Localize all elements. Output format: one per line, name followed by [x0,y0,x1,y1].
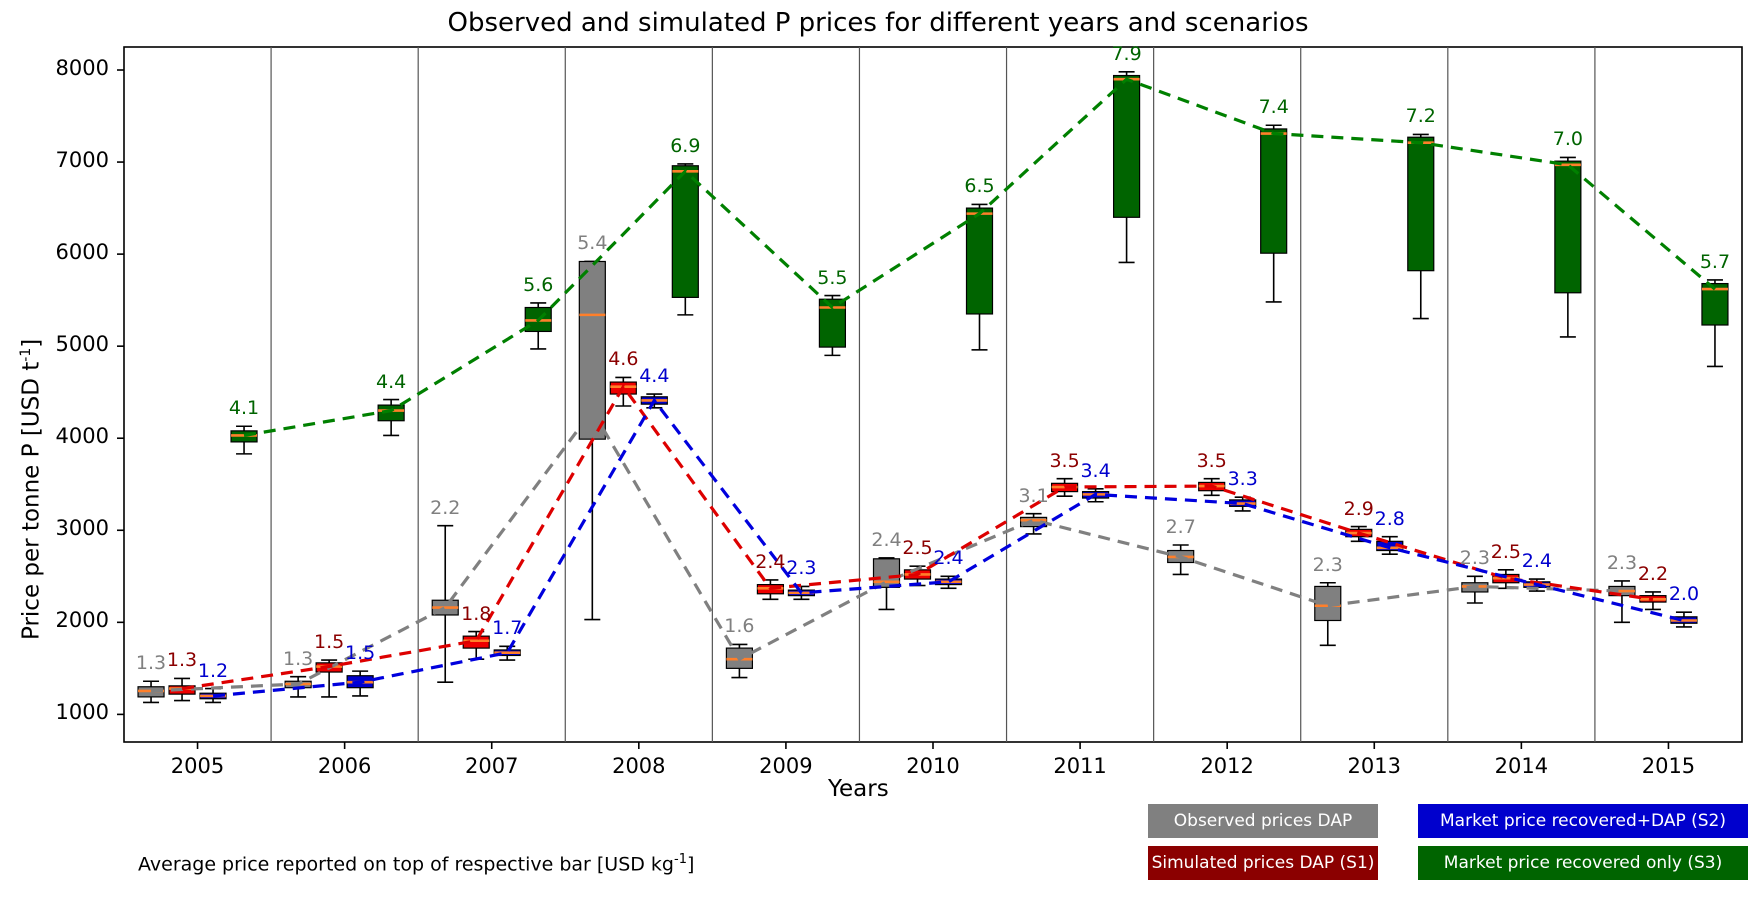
box-plot [1408,137,1434,270]
bar-value-label: 6.9 [655,135,715,157]
x-tick-label: 2013 [1314,754,1434,778]
bar-value-label: 1.2 [183,660,243,682]
box-plot [1555,161,1581,293]
y-tick-label: 4000 [29,424,109,448]
y-tick-label: 8000 [29,56,109,80]
bar-value-label: 2.0 [1654,583,1714,605]
x-tick-label: 2015 [1608,754,1728,778]
bar-value-label: 2.3 [771,557,831,579]
box-plot [1702,284,1728,325]
bar-value-label: 2.2 [415,497,475,519]
bar-value-label: 7.2 [1391,105,1451,127]
chart-figure: Observed and simulated P prices for diff… [0,0,1756,900]
box-plot [1261,129,1287,253]
x-tick-label: 2010 [873,754,993,778]
x-tick-label: 2006 [285,754,405,778]
legend-item-label: Market price recovered only (S3) [1444,853,1722,873]
bar-value-label: 2.4 [1507,550,1567,572]
y-tick-label: 2000 [29,608,109,632]
bar-value-label: 2.4 [919,547,979,569]
bar-value-label: 4.1 [214,397,274,419]
legend-item: Market price recovered only (S3) [1418,846,1748,880]
y-tick-label: 7000 [29,148,109,172]
legend-item-label: Simulated prices DAP (S1) [1152,853,1375,873]
bar-value-label: 3.4 [1066,460,1126,482]
bar-value-label: 5.4 [562,232,622,254]
bar-value-label: 2.3 [1298,554,1358,576]
bar-value-label: 5.6 [508,274,568,296]
bar-value-label: 7.4 [1244,96,1304,118]
box-plot [874,559,900,588]
y-tick-label: 6000 [29,240,109,264]
box-plot [672,166,698,298]
bar-value-label: 3.1 [1004,485,1064,507]
legend-item-label: Observed prices DAP [1174,811,1352,831]
bar-value-label: 2.7 [1151,516,1211,538]
bar-value-label: 2.2 [1623,563,1683,585]
bar-value-label: 7.0 [1538,128,1598,150]
box-plot [378,405,404,421]
bar-value-label: 5.7 [1685,251,1745,273]
x-tick-label: 2012 [1167,754,1287,778]
bar-value-label: 3.3 [1213,468,1273,490]
x-tick-label: 2008 [579,754,699,778]
x-tick-label: 2011 [1020,754,1140,778]
bar-value-label: 6.5 [950,175,1010,197]
bar-value-label: 7.9 [1097,43,1157,65]
x-tick-label: 2007 [432,754,552,778]
bar-value-label: 4.4 [624,365,684,387]
legend-item: Simulated prices DAP (S1) [1148,846,1378,880]
legend-item-label: Market price recovered+DAP (S2) [1440,811,1726,831]
bar-value-label: 4.4 [361,371,421,393]
x-tick-label: 2009 [726,754,846,778]
y-tick-label: 3000 [29,516,109,540]
bar-value-label: 5.5 [802,267,862,289]
bar-value-label: 1.5 [330,642,390,664]
y-tick-label: 5000 [29,332,109,356]
bar-value-label: 1.7 [477,617,537,639]
legend-item: Observed prices DAP [1148,804,1378,838]
bar-value-label: 1.6 [709,615,769,637]
legend-item: Market price recovered+DAP (S2) [1418,804,1748,838]
y-tick-label: 1000 [29,700,109,724]
box-plot [967,208,993,314]
box-plot [1114,76,1140,218]
x-tick-label: 2014 [1461,754,1581,778]
x-tick-label: 2005 [138,754,258,778]
bar-value-label: 2.8 [1360,508,1420,530]
